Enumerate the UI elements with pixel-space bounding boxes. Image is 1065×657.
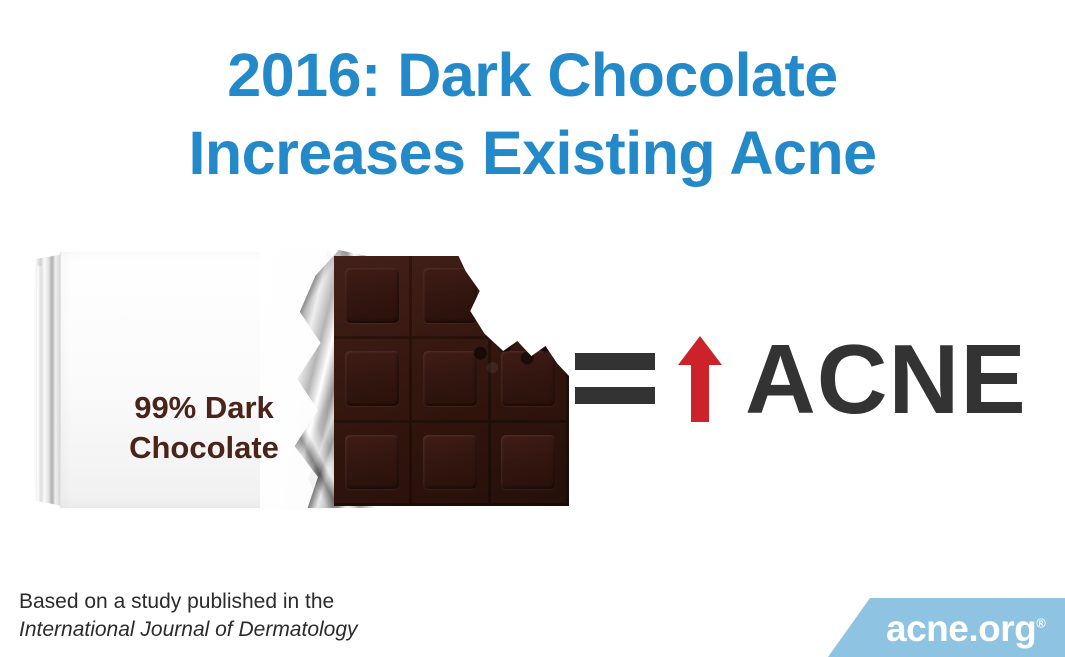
chocolate-square	[334, 423, 412, 506]
wrapper-edge-highlight	[37, 266, 43, 504]
wrapper-label-line-2: Chocolate	[94, 428, 314, 468]
title-line-2: Increases Existing Acne	[0, 114, 1065, 192]
source-footnote: Based on a study published in the Intern…	[19, 588, 358, 644]
equals-icon	[575, 347, 655, 409]
chocolate-square	[334, 339, 412, 422]
bite-mark-texture	[462, 334, 564, 382]
chocolate-square	[491, 256, 569, 339]
chocolate-square	[334, 256, 412, 339]
footnote-line-1: Based on a study published in the	[19, 588, 358, 616]
registered-trademark-icon: ®	[1036, 616, 1045, 631]
wrapper-label-line-1: 99% Dark	[94, 388, 314, 428]
footnote-journal-name: International Journal of Dermatology	[19, 616, 358, 644]
title-line-1: 2016: Dark Chocolate	[0, 36, 1065, 114]
page-title: 2016: Dark Chocolate Increases Existing …	[0, 36, 1065, 192]
acne-org-logo[interactable]: acne.org®	[828, 598, 1065, 657]
chocolate-bar-illustration: 99% Dark Chocolate	[34, 248, 569, 510]
equation-group: ACNE	[573, 332, 1033, 432]
logo-text: acne.org®	[886, 609, 1045, 649]
chocolate-square	[412, 256, 490, 339]
up-arrow-icon	[677, 334, 723, 424]
wrapper-label: 99% Dark Chocolate	[94, 388, 314, 468]
equals-bar-bottom	[575, 387, 655, 404]
chocolate-block	[334, 256, 569, 506]
acne-result-text: ACNE	[745, 324, 1027, 434]
chocolate-square	[491, 423, 569, 506]
logo-wordmark: acne.org	[886, 608, 1036, 649]
infographic-canvas: 2016: Dark Chocolate Increases Existing …	[0, 0, 1065, 657]
chocolate-square	[412, 423, 490, 506]
equals-bar-top	[575, 353, 655, 370]
